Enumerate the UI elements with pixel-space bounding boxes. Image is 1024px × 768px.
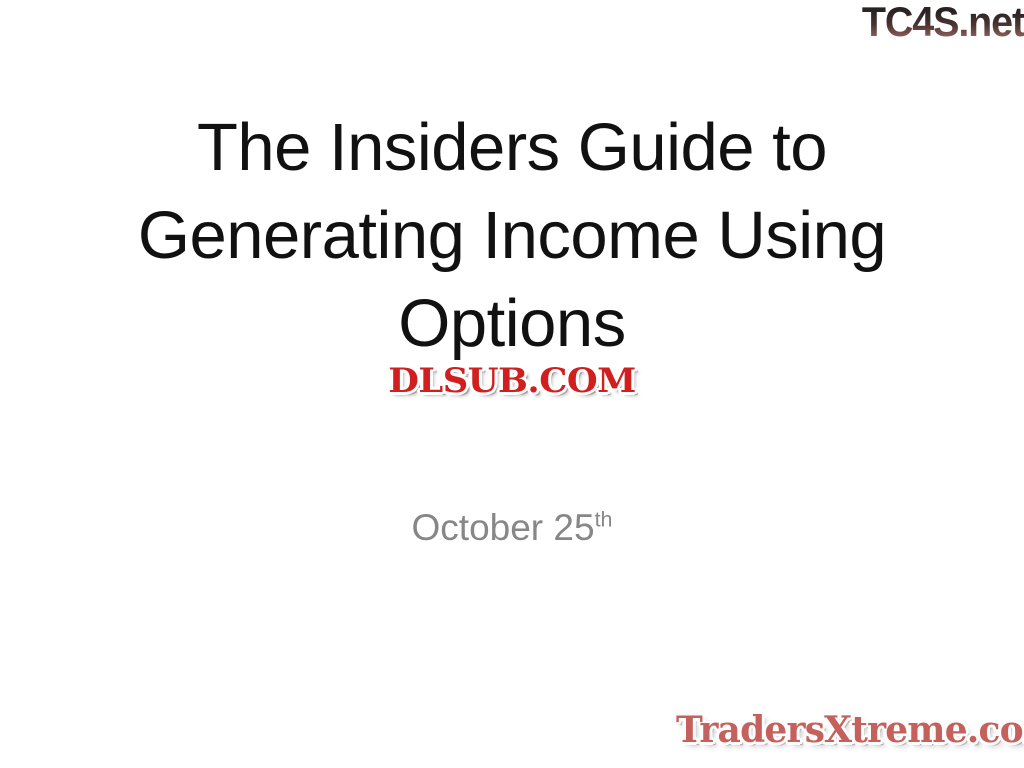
presentation-slide: TC4S.net The Insiders Guide to Generatin… (0, 0, 1024, 768)
title-line-1: The Insiders Guide to (62, 104, 962, 192)
dlsub-watermark: DLSUB.COM (362, 360, 662, 404)
title-line-3: Options (62, 280, 962, 368)
tradersxtreme-footer-logo: TradersXtreme.com (676, 704, 1020, 756)
dlsub-watermark-label: DLSUB.COM (356, 360, 668, 402)
tc4s-site-logo: TC4S.net (844, 0, 1024, 46)
slide-title: The Insiders Guide to Generating Income … (62, 104, 962, 368)
title-line-2: Generating Income Using (62, 192, 962, 280)
subtitle-ordinal-suffix: th (595, 508, 613, 532)
subtitle-date-text: October 25 (412, 507, 595, 548)
slide-subtitle-date: October 25th (62, 504, 962, 552)
